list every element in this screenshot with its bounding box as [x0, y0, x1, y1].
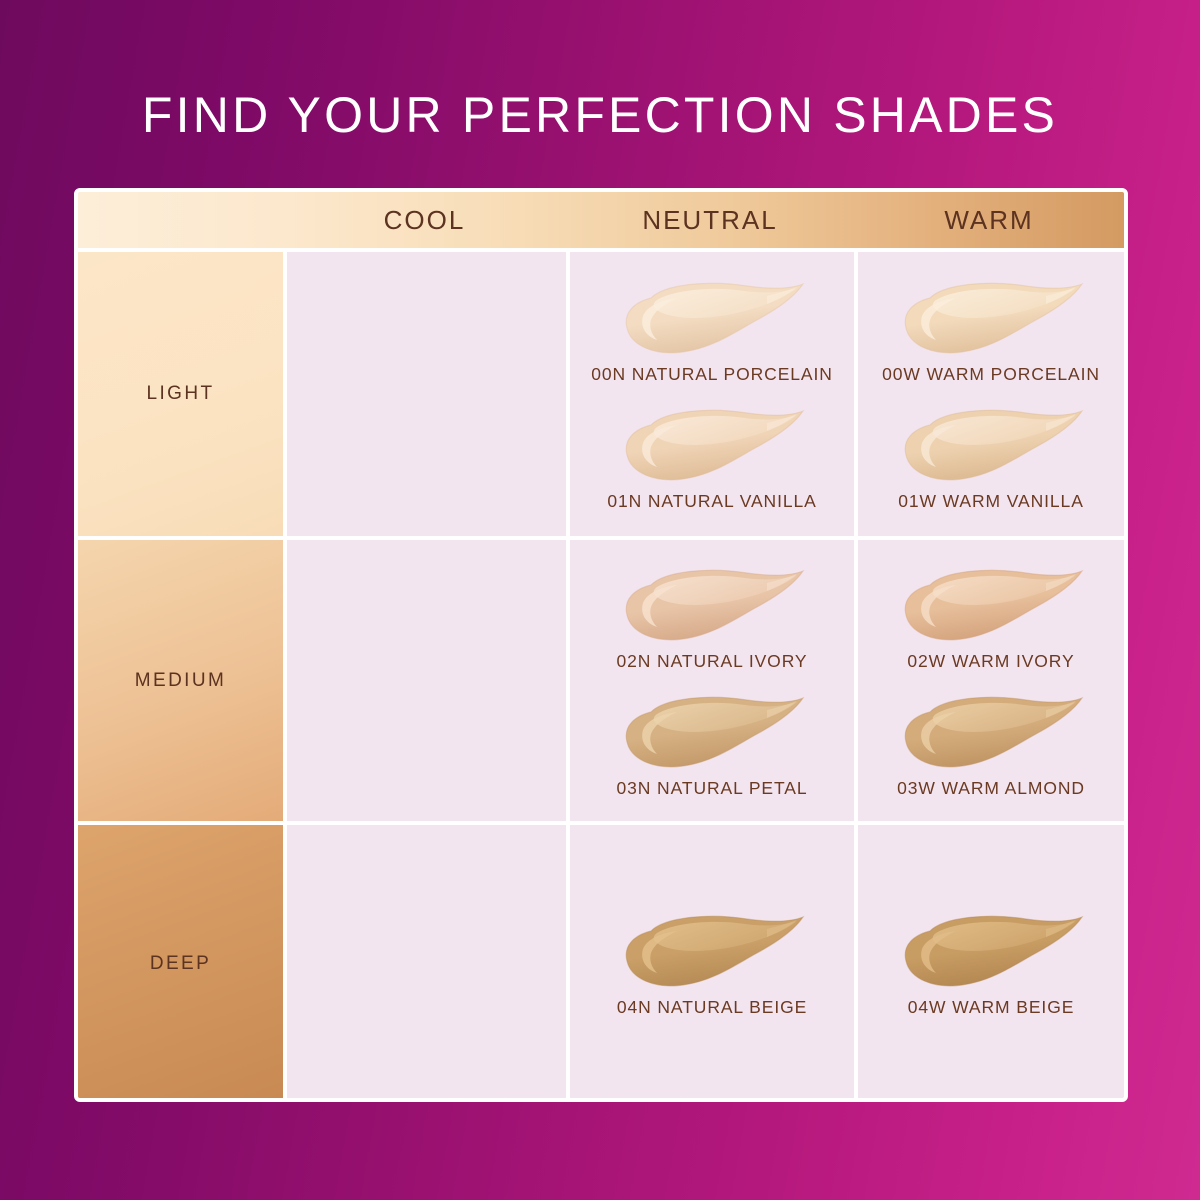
- shade-entry[interactable]: 02W WARM IVORY: [866, 563, 1116, 672]
- foundation-swatch-icon: [617, 909, 807, 995]
- foundation-swatch-icon: [896, 276, 1086, 362]
- row-header-light: LIGHT: [78, 248, 283, 536]
- foundation-swatch-icon: [617, 276, 807, 362]
- cell-light-warm: 00W WARM PORCELAIN01W WARM VANILLA: [854, 248, 1124, 536]
- shade-finder-table: COOL NEUTRAL WARM LIGHT 00N NATURAL PORC…: [74, 188, 1128, 1102]
- cell-deep-warm: 04W WARM BEIGE: [854, 821, 1124, 1102]
- shade-name-label: 03N NATURAL PETAL: [616, 778, 807, 799]
- row-header-medium: MEDIUM: [78, 536, 283, 821]
- shade-entry[interactable]: 02N NATURAL IVORY: [578, 563, 846, 672]
- shade-entry[interactable]: 03N NATURAL PETAL: [578, 690, 846, 799]
- shade-name-label: 01W WARM VANILLA: [898, 491, 1084, 512]
- cell-light-cool: [283, 248, 566, 536]
- column-header-warm: WARM: [854, 192, 1124, 248]
- shade-name-label: 04W WARM BEIGE: [908, 997, 1075, 1018]
- shade-entry[interactable]: 01W WARM VANILLA: [866, 403, 1116, 512]
- column-header-cool: COOL: [283, 192, 566, 248]
- shade-entry[interactable]: 04W WARM BEIGE: [866, 909, 1116, 1018]
- column-header-neutral: NEUTRAL: [566, 192, 854, 248]
- cell-deep-neutral: 04N NATURAL BEIGE: [566, 821, 854, 1102]
- shade-name-label: 00W WARM PORCELAIN: [882, 364, 1100, 385]
- shade-entry[interactable]: 00N NATURAL PORCELAIN: [578, 276, 846, 385]
- shade-name-label: 02N NATURAL IVORY: [616, 651, 807, 672]
- shade-entry[interactable]: 00W WARM PORCELAIN: [866, 276, 1116, 385]
- shade-name-label: 01N NATURAL VANILLA: [607, 491, 816, 512]
- cell-medium-warm: 02W WARM IVORY03W WARM ALMOND: [854, 536, 1124, 821]
- shade-name-label: 02W WARM IVORY: [907, 651, 1074, 672]
- cell-deep-cool: [283, 821, 566, 1102]
- foundation-swatch-icon: [617, 690, 807, 776]
- cell-light-neutral: 00N NATURAL PORCELAIN01N NATURAL VANILLA: [566, 248, 854, 536]
- foundation-swatch-icon: [896, 403, 1086, 489]
- shade-entry[interactable]: 04N NATURAL BEIGE: [578, 909, 846, 1018]
- table-corner-cell: [78, 192, 283, 248]
- foundation-swatch-icon: [896, 563, 1086, 649]
- cell-medium-cool: [283, 536, 566, 821]
- foundation-swatch-icon: [896, 690, 1086, 776]
- shade-name-label: 03W WARM ALMOND: [897, 778, 1085, 799]
- cell-medium-neutral: 02N NATURAL IVORY03N NATURAL PETAL: [566, 536, 854, 821]
- shade-name-label: 04N NATURAL BEIGE: [617, 997, 807, 1018]
- shade-entry[interactable]: 01N NATURAL VANILLA: [578, 403, 846, 512]
- row-header-deep: DEEP: [78, 821, 283, 1102]
- foundation-swatch-icon: [896, 909, 1086, 995]
- shade-name-label: 00N NATURAL PORCELAIN: [591, 364, 833, 385]
- foundation-swatch-icon: [617, 403, 807, 489]
- foundation-swatch-icon: [617, 563, 807, 649]
- page-title: FIND YOUR PERFECTION SHADES: [0, 86, 1200, 144]
- shade-entry[interactable]: 03W WARM ALMOND: [866, 690, 1116, 799]
